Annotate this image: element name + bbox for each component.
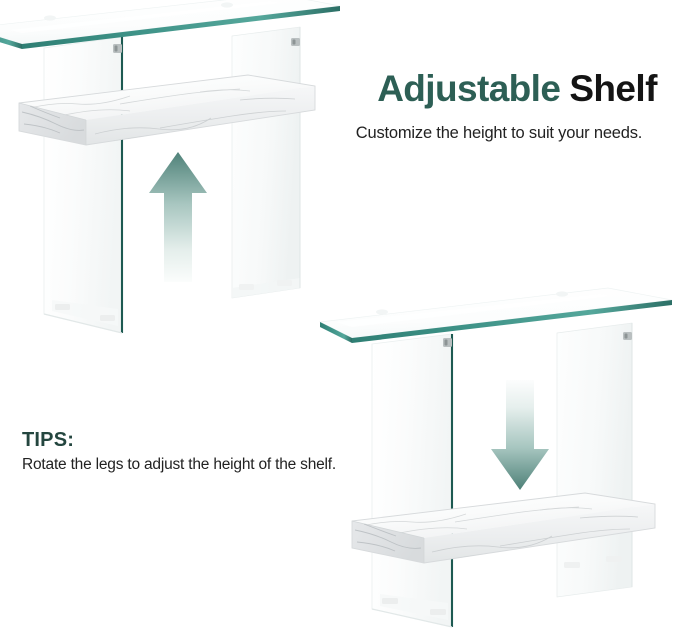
- subheadline: Customize the height to suit your needs.: [326, 124, 672, 143]
- shelf-raise-arrow: [149, 152, 207, 282]
- console-table-shelf-low: [320, 288, 672, 627]
- glass-side-panel-left: [44, 37, 122, 333]
- glass-side-panel-right: [232, 27, 300, 298]
- console-table-shelf-high: [0, 0, 340, 333]
- headline-accent-word: Adjustable: [377, 68, 560, 109]
- headline: AdjustableShelf: [356, 70, 672, 107]
- tips-text: Rotate the legs to adjust the height of …: [22, 456, 352, 475]
- tips-title: TIPS:: [22, 429, 352, 451]
- infographic-page: AdjustableShelf Customize the height to …: [0, 0, 679, 640]
- shelf-lower-arrow: [491, 380, 549, 490]
- tips-block: TIPS: Rotate the legs to adjust the heig…: [22, 429, 352, 475]
- headline-plain-word: Shelf: [569, 68, 656, 109]
- glass-side-panel-left: [372, 334, 452, 627]
- glass-side-panel-right: [557, 323, 632, 597]
